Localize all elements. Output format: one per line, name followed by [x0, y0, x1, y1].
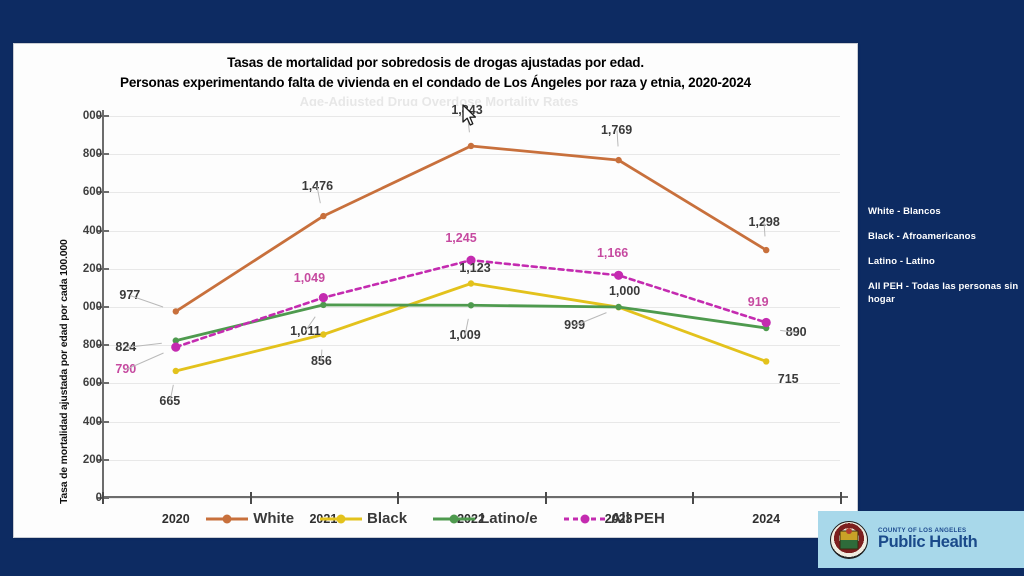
- data-point-marker: [173, 368, 179, 374]
- glossary-line-2: Latino - Latino: [868, 255, 1020, 268]
- chart-title-line-2: Personas experimentando falta de viviend…: [14, 73, 857, 93]
- series-lines: [102, 116, 840, 498]
- chart-legend: WhiteBlackLatino/eAll PEH: [14, 510, 857, 527]
- data-label-black-2022: 1,123: [459, 261, 490, 275]
- data-point-marker: [762, 318, 771, 327]
- data-label-all-peh-2021: 1,049: [294, 271, 325, 285]
- data-point-marker: [173, 308, 179, 314]
- data-point-marker: [763, 358, 769, 364]
- data-label-all-peh-2022: 1,245: [445, 231, 476, 245]
- data-label-all-peh-2023: 1,166: [597, 246, 628, 260]
- data-point-marker: [319, 293, 328, 302]
- y-tick-label: 800: [58, 148, 102, 160]
- x-tick-mark: [840, 492, 842, 504]
- legend-swatch-icon: [320, 512, 362, 526]
- public-health-logo-bar: County of Los Angeles Public Health: [818, 511, 1024, 568]
- gridline: [102, 498, 840, 499]
- plot-area: 0200400600800000200400600800000 20202021…: [102, 116, 840, 498]
- logo-public-health-text: Public Health: [878, 534, 977, 551]
- legend-item-white[interactable]: White: [206, 510, 294, 527]
- data-point-marker: [171, 343, 180, 352]
- data-point-marker: [614, 271, 623, 280]
- data-point-marker: [320, 331, 326, 337]
- data-label-latino-e-2023: 1,000: [609, 284, 640, 298]
- y-tick-label: 400: [58, 416, 102, 428]
- glossary-panel: White - BlancosBlack - AfroamericanosLat…: [868, 205, 1020, 318]
- y-tick-label: 000: [58, 110, 102, 122]
- series-line-black: [176, 284, 766, 371]
- logo-text: County of Los Angeles Public Health: [878, 528, 977, 551]
- data-point-marker: [763, 247, 769, 253]
- y-tick-label: 800: [58, 339, 102, 351]
- legend-swatch-icon: [206, 512, 248, 526]
- y-tick-label: 400: [58, 225, 102, 237]
- data-point-marker: [468, 280, 474, 286]
- legend-item-latino-e[interactable]: Latino/e: [433, 510, 538, 527]
- chart-title-line-1: Tasas de mortalidad por sobredosis de dr…: [14, 53, 857, 73]
- ghost-original-title: Age-Adjusted Drug Overdose Mortality Rat…: [144, 94, 734, 106]
- glossary-line-1: Black - Afroamericanos: [868, 230, 1020, 243]
- legend-item-black[interactable]: Black: [320, 510, 407, 527]
- data-point-marker: [468, 302, 474, 308]
- data-point-marker: [468, 143, 474, 149]
- glossary-line-0: White - Blancos: [868, 205, 1020, 218]
- data-label-all-peh-2024: 919: [748, 295, 769, 309]
- data-point-marker: [320, 302, 326, 308]
- plot-inner: 0200400600800000200400600800000 20202021…: [102, 116, 840, 498]
- legend-label: White: [253, 510, 294, 527]
- y-tick-label: 000: [58, 301, 102, 313]
- county-seal-icon: [830, 521, 868, 559]
- legend-item-all-peh[interactable]: All PEH: [564, 510, 665, 527]
- chart-title-block: Tasas de mortalidad por sobredosis de dr…: [14, 53, 857, 93]
- data-point-marker: [615, 157, 621, 163]
- chart-card: Tasas de mortalidad por sobredosis de dr…: [13, 43, 858, 538]
- y-tick-label: 0: [58, 492, 102, 504]
- data-point-marker: [615, 304, 621, 310]
- y-tick-label: 200: [58, 454, 102, 466]
- legend-label: Latino/e: [480, 510, 538, 527]
- y-tick-label: 600: [58, 377, 102, 389]
- y-tick-label: 200: [58, 263, 102, 275]
- data-label-black-2024: 715: [778, 372, 799, 386]
- legend-label: Black: [367, 510, 407, 527]
- legend-swatch-icon: [433, 512, 475, 526]
- data-point-marker: [320, 213, 326, 219]
- glossary-line-3: All PEH - Todas las personas sin hogar: [868, 280, 1020, 306]
- legend-label: All PEH: [611, 510, 665, 527]
- y-tick-label: 600: [58, 186, 102, 198]
- legend-swatch-icon: [564, 512, 606, 526]
